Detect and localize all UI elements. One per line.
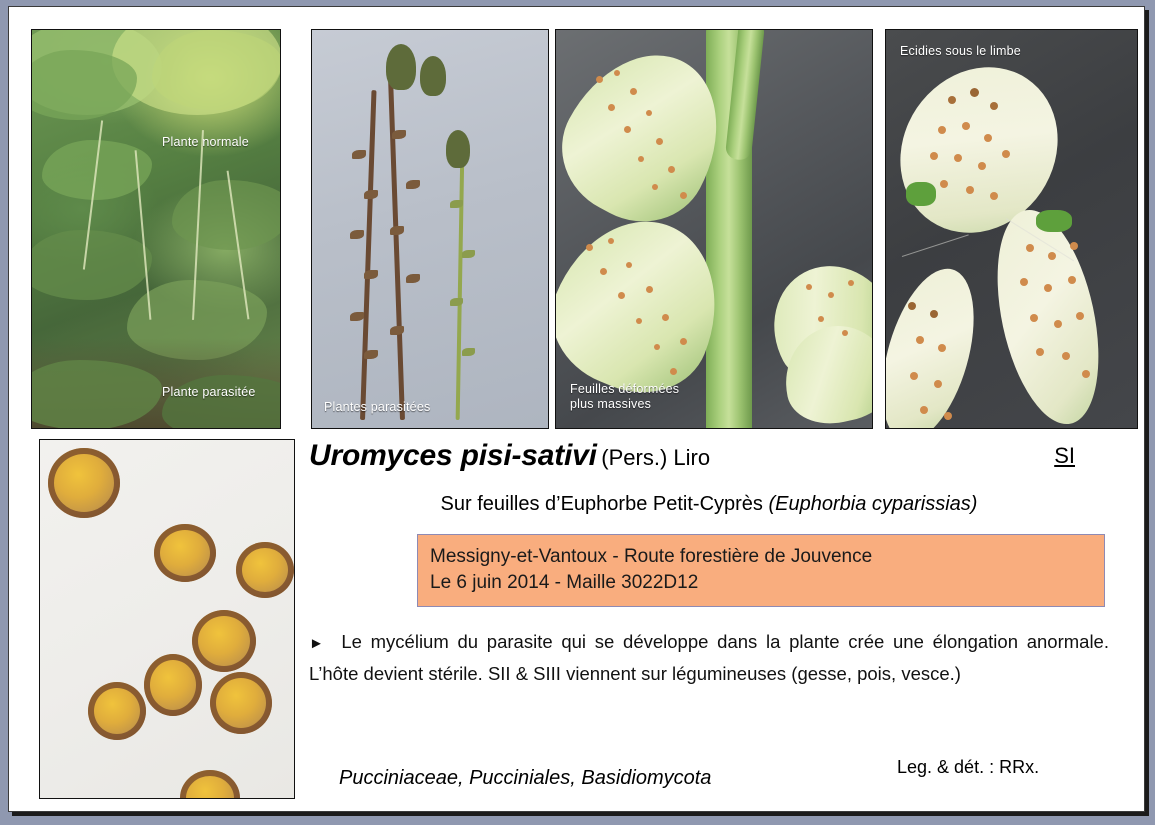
stage-marker: SI (1054, 443, 1075, 469)
spore (210, 672, 272, 734)
spore (48, 448, 120, 518)
page-title: Uromyces pisi-sativi (309, 439, 597, 472)
title-row: Uromyces pisi-sativi (Pers.) Liro SI (309, 439, 1137, 483)
deformed-leaves-caption: Feuilles déformées plus massives (570, 382, 679, 412)
spore (154, 524, 216, 582)
taxonomy-label: Pucciniaceae, Pucciniales, Basidiomycota (339, 767, 711, 790)
habitat-photo: Plante normale Plante parasitée (31, 29, 281, 429)
description-panel: Uromyces pisi-sativi (Pers.) Liro SI Sur… (309, 439, 1137, 801)
spore (88, 682, 146, 740)
parasitised-stems-caption: Plantes parasitées (324, 400, 430, 415)
notes-paragraph: ► Le mycélium du parasite qui se dévelop… (309, 627, 1109, 689)
host-prefix: Sur feuilles d’Euphorbe Petit-Cyprès (441, 493, 769, 515)
slide-canvas: Plante normale Plante parasitée Plantes … (8, 6, 1145, 812)
spore (180, 770, 240, 799)
host-line: Sur feuilles d’Euphorbe Petit-Cyprès (Eu… (309, 493, 1137, 516)
parasitised-stems-photo: Plantes parasitées (311, 29, 549, 429)
spores-microscope-photo (39, 439, 295, 799)
locality-line-2: Le 6 juin 2014 - Maille 3022D12 (430, 570, 1092, 596)
aecia-underside-photo: Ecidies sous le limbe (885, 29, 1138, 429)
locality-box: Messigny-et-Vantoux - Route forestière d… (417, 534, 1105, 607)
aecia-underside-caption: Ecidies sous le limbe (900, 44, 1021, 59)
locality-line-1: Messigny-et-Vantoux - Route forestière d… (430, 544, 1092, 570)
habitat-caption-parasitised: Plante parasitée (162, 385, 256, 400)
footer-row: Pucciniaceae, Pucciniales, Basidiomycota… (309, 757, 1137, 797)
spore (144, 654, 202, 716)
authority-label: (Pers.) Liro (601, 445, 710, 470)
spore (192, 610, 256, 672)
collector-label: Leg. & dét. : RRx. (897, 757, 1039, 778)
arrow-icon: ► (309, 635, 324, 652)
habitat-caption-normal: Plante normale (162, 135, 249, 150)
deformed-leaves-photo: Feuilles déformées plus massives (555, 29, 873, 429)
spore (236, 542, 294, 598)
notes-text: Le mycélium du parasite qui se développe… (309, 631, 1109, 684)
host-scientific-name: (Euphorbia cyparissias) (768, 493, 977, 515)
